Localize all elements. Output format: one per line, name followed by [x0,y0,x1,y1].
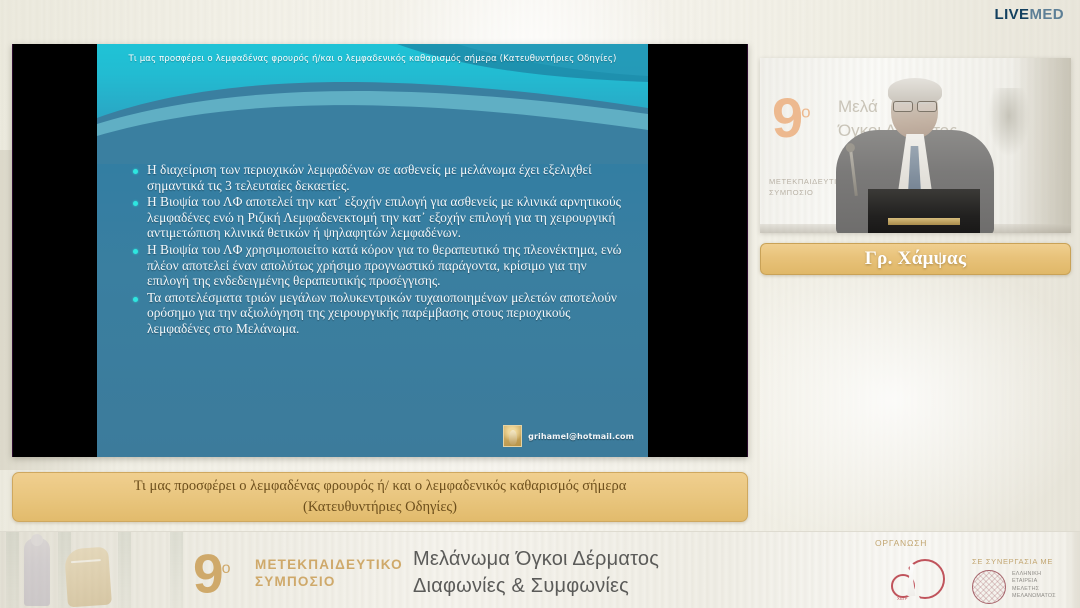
session-title-banner: Τι μας προσφέρει ο λεμφαδένας φρουρός ή/… [12,472,748,522]
cooperation-text-line3: ΜΕΛΕΤΗΣ [1012,586,1056,593]
cooperation-block: ΣΕ ΣΥΝΕΡΓΑΣΙΑ ΜΕ ΕΛΛΗΝΙΚΗ ΕΤΑΙΡΕΙΑ ΜΕΛΕΤ… [972,557,1077,566]
footer-branding-bar: 9ο ΜΕΤΕΚΠΑΙΔΕΥΤΙΚΟ ΣΥΜΠΟΣΙΟ Μελάνωμα Όγκ… [0,531,1080,608]
presentation-slide: Τι μας προσφέρει ο λεμφαδένας φρουρός ή/… [97,44,648,457]
speaker-video[interactable]: 9ο ΜΕΤΕΚΠΑΙΔΕΥΤΙΚ ΣΥΜΠΟΣΙΟ Μελά Όγκοι Δέ… [760,58,1071,233]
credit-email: grihamel@hotmail.com [528,432,634,441]
slide-bullet-list: Η διαχείριση των περιοχικών λεμφαδένων σ… [133,162,630,338]
livemed-logo[interactable]: LIVEMED [995,7,1065,22]
session-title-line2: (Κατευθυντήριες Οδηγίες) [303,498,457,517]
cooperation-text-line2: ΕΤΑΙΡΕΙΑ [1012,578,1056,585]
session-title-line1: Τι μας προσφέρει ο λεμφαδένας φρουρός ή/… [134,477,627,496]
cooperation-logo-icon [972,570,1006,604]
footer-symposium-line2: ΣΥΜΠΟΣΙΟ [255,573,403,590]
backdrop-number: 9ο [772,94,809,142]
background-highlight-right [760,250,1080,550]
bullet-text: Η Βιοψία του ΛΦ αποτελεί την κατ᾽ εξοχήν… [147,194,630,241]
organizer-block: ΟΡΓΑΝΩΣΗ ΧΕΙΡ [875,538,970,548]
footer-theme: Μελάνωμα Όγκοι Δέρματος Διαφωνίες & Συμφ… [413,546,659,600]
speaker-glasses-icon [893,101,937,110]
illustration-horse [64,547,112,608]
slide-title: Τι μας προσφέρει ο λεμφαδένας φρουρός ή/… [97,54,648,64]
bullet-dot-icon [133,297,138,302]
footer-theme-line1: Μελάνωμα Όγκοι Δέρματος [413,546,659,573]
bullet-text: Τα αποτελέσματα τριών μεγάλων πολυκεντρι… [147,290,630,337]
footer-right-fade [1066,532,1080,608]
speaker-name: Γρ. Χάμψας [865,248,967,270]
backdrop-symposium: ΜΕΤΕΚΠΑΙΔΕΥΤΙΚ ΣΥΜΠΟΣΙΟ [769,176,842,198]
livemed-logo-med: MED [1029,6,1064,23]
footer-number-ordinal: ο [222,560,231,577]
illustration-woman [24,538,50,606]
cooperation-text-line1: ΕΛΛΗΝΙΚΗ [1012,571,1056,578]
footer-number-value: 9 [193,542,222,604]
organizer-label: ΟΡΓΑΝΩΣΗ [875,538,970,548]
footer-number: 9ο [193,540,231,602]
backdrop-number-value: 9 [772,86,801,149]
cooperation-text: ΕΛΛΗΝΙΚΗ ΕΤΑΙΡΕΙΑ ΜΕΛΕΤΗΣ ΜΕΛΑΝΩΜΑΤΟΣ [1012,571,1056,601]
list-item: Η Βιοψία του ΛΦ αποτελεί την κατ᾽ εξοχήν… [133,194,630,241]
footer-symposium-line1: ΜΕΤΕΚΠΑΙΔΕΥΤΙΚΟ [255,556,403,573]
organizer-logo-word: ΧΕΙΡ [897,596,908,601]
footer-symposium: ΜΕΤΕΚΠΑΙΔΕΥΤΙΚΟ ΣΥΜΠΟΣΙΟ [255,556,403,590]
backdrop-number-ordinal: ο [801,102,808,121]
list-item: Τα αποτελέσματα τριών μεγάλων πολυκεντρι… [133,290,630,337]
backdrop-symposium-line1: ΜΕΤΕΚΠΑΙΔΕΥΤΙΚ [769,176,842,187]
portrait-thumbnail-icon [503,425,522,447]
cooperation-text-line4: ΜΕΛΑΝΩΜΑΤΟΣ [1012,593,1056,600]
podium [868,189,980,233]
backdrop-symposium-line2: ΣΥΜΠΟΣΙΟ [769,187,842,198]
slide-credit: grihamel@hotmail.com [503,425,634,447]
footer-decorative-illustration [0,532,215,608]
bullet-dot-icon [133,169,138,174]
list-item: Η διαχείριση των περιοχικών λεμφαδένων σ… [133,162,630,193]
footer-theme-line2: Διαφωνίες & Συμφωνίες [413,573,659,600]
list-item: Η Βιοψία του ΛΦ χρησιμοποιείτο κατά κόρο… [133,242,630,289]
bullet-text: Η διαχείριση των περιοχικών λεμφαδένων σ… [147,162,630,193]
backdrop-wall-shade [1013,58,1071,233]
livemed-logo-live: LIVE [995,6,1030,23]
bullet-dot-icon [133,201,138,206]
slide-player[interactable]: Τι μας προσφέρει ο λεμφαδένας φρουρός ή/… [12,44,748,457]
webinar-viewer: LIVEMED Τι μας προσφέρει ο λεμφαδένας φρ… [0,0,1080,608]
cooperation-label: ΣΕ ΣΥΝΕΡΓΑΣΙΑ ΜΕ [972,557,1077,566]
organizer-logo-icon: ΧΕΙΡ [889,554,943,608]
bullet-text: Η Βιοψία του ΛΦ χρησιμοποιείτο κατά κόρο… [147,242,630,289]
speaker-nameplate: Γρ. Χάμψας [760,243,1071,275]
bullet-dot-icon [133,249,138,254]
